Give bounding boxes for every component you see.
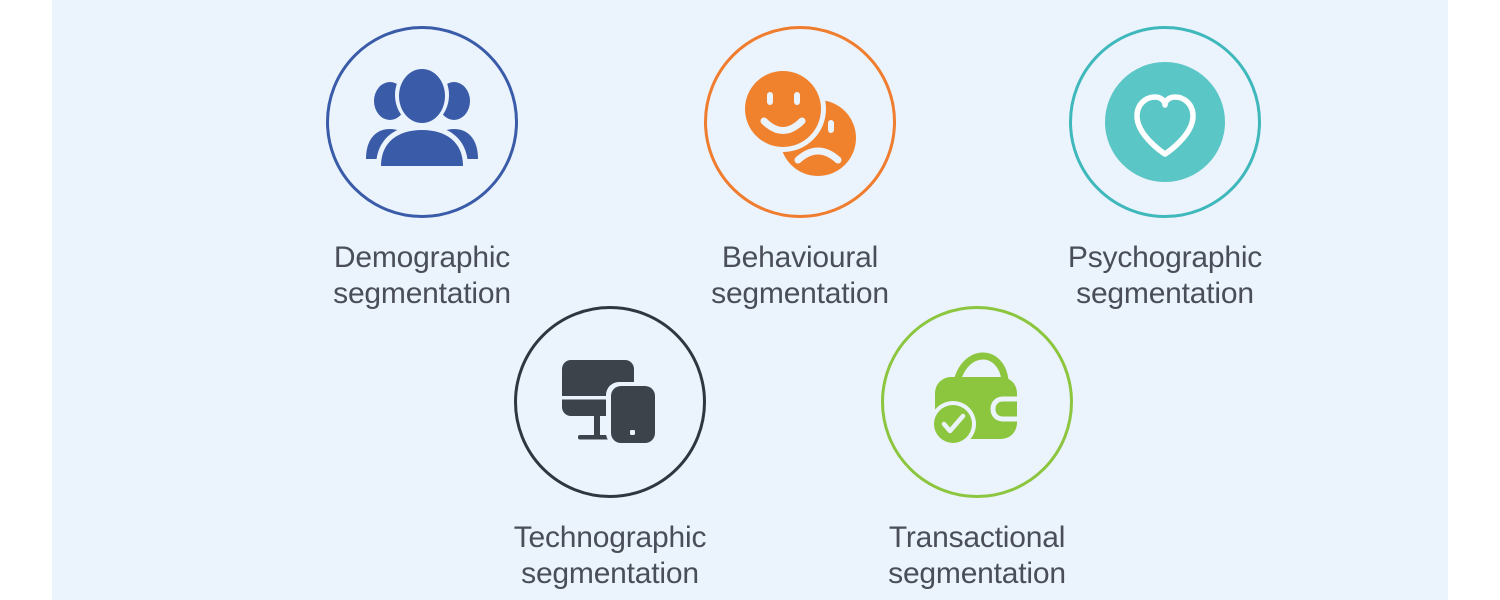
segmentation-item-transactional[interactable]: Transactional segmentation: [847, 306, 1107, 592]
segmentation-label-transactional: Transactional segmentation: [847, 520, 1107, 592]
segmentation-label-technographic: Technographic segmentation: [480, 520, 740, 592]
heart-icon: [1103, 60, 1227, 184]
icon-circle-demographic: [326, 26, 518, 218]
segmentation-label-demographic: Demographic segmentation: [292, 240, 552, 312]
infographic-panel: Demographic segmentation: [52, 0, 1448, 600]
happy-sad-faces-icon: [740, 64, 860, 180]
people-group-icon: [362, 67, 482, 177]
icon-circle-psychographic: [1069, 26, 1261, 218]
segmentation-infographic: Demographic segmentation: [0, 0, 1500, 600]
segmentation-label-psychographic: Psychographic segmentation: [1035, 240, 1295, 312]
segmentation-item-technographic[interactable]: Technographic segmentation: [480, 306, 740, 592]
segmentation-item-psychographic[interactable]: Psychographic segmentation: [1035, 26, 1295, 312]
segmentation-item-behavioural[interactable]: Behavioural segmentation: [670, 26, 930, 312]
devices-monitor-tablet-icon: [558, 356, 662, 448]
icon-circle-transactional: [881, 306, 1073, 498]
icon-circle-technographic: [514, 306, 706, 498]
segmentation-item-demographic[interactable]: Demographic segmentation: [292, 26, 552, 312]
wallet-check-icon: [925, 352, 1029, 452]
segmentation-label-behavioural: Behavioural segmentation: [670, 240, 930, 312]
icon-circle-behavioural: [704, 26, 896, 218]
